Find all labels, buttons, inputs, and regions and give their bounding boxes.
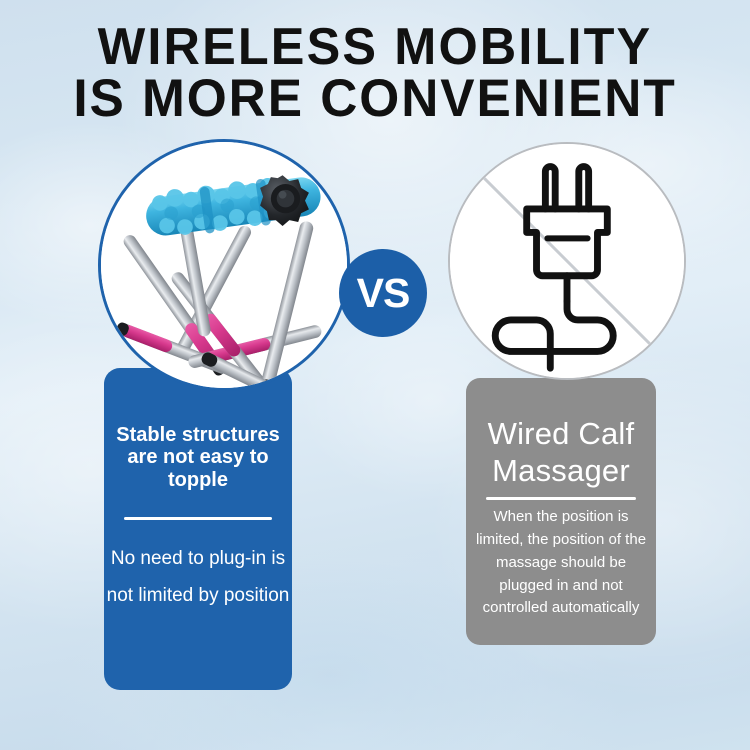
- cordless-massager-photo-circle: [98, 139, 350, 391]
- left-feature-card: Stable structures are not easy to topple…: [104, 368, 292, 690]
- left-card-heading: Stable structures are not easy to topple: [104, 424, 292, 491]
- left-card-body: No need to plug-in is not limited by pos…: [104, 540, 292, 614]
- wired-plug-icon-circle: [448, 142, 686, 380]
- right-card-body: When the position is limited, the positi…: [466, 506, 656, 620]
- vs-badge: VS: [339, 249, 427, 337]
- headline-line-2: IS MORE CONVENIENT: [11, 73, 739, 125]
- right-feature-card: Wired Calf Massager When the position is…: [466, 378, 656, 645]
- comparison-infographic: WIRELESS MOBILITY IS MORE CONVENIENT Sta…: [0, 0, 750, 750]
- page-title: WIRELESS MOBILITY IS MORE CONVENIENT: [11, 22, 739, 125]
- headline-line-1: WIRELESS MOBILITY: [11, 22, 739, 73]
- cordless-calf-massager-photo: [101, 142, 347, 388]
- right-card-heading: Wired Calf Massager: [466, 416, 656, 489]
- right-card-divider: [486, 497, 636, 500]
- power-plug-with-cord-icon: [450, 144, 684, 378]
- left-card-divider: [124, 517, 272, 520]
